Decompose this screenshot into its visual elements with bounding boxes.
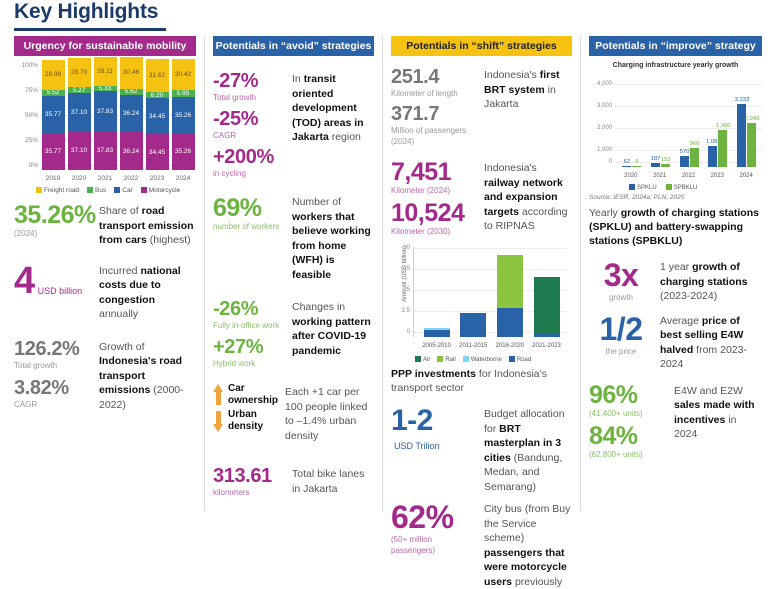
y-tick: 75% <box>14 87 38 94</box>
text-plain: (2023-2024) <box>660 290 717 302</box>
chart-charging-infrastructure: 4,000 3,000 2,000 1,000 0 62918715357096… <box>589 71 765 193</box>
stat-sub: number of workers <box>213 221 285 232</box>
text-bold: workers that believe working from home (… <box>292 211 371 281</box>
stat-description: Incurred national costs due to congestio… <box>92 262 196 322</box>
stat-sub: (2024) <box>14 228 92 239</box>
y-tick: 25% <box>14 137 38 144</box>
chart-plot-area: 35.7735.775.5228.9937.1037.105.2728.7037… <box>40 66 196 170</box>
stat-sub: Kilometer (2024) <box>391 185 477 196</box>
stat-description: City bus (from Buy the Service scheme) p… <box>477 500 572 589</box>
chart-plot-area: 6291871535709661,0811,9003,2332,240 <box>615 83 763 167</box>
stat-description: Each +1 car per 100 people linked to –1.… <box>278 383 374 443</box>
stat-description: 1 year growth of charging stations (2023… <box>653 258 762 304</box>
x-tick-label: 2023 <box>146 175 169 182</box>
stat-sub: growth <box>589 292 653 303</box>
stat-sub: the price <box>589 346 653 357</box>
stat-value-group: 96% (41,400+ units) 84% (62,800+ units) <box>589 382 667 460</box>
bar <box>718 130 727 167</box>
bar-segment: 28.11 <box>94 57 117 86</box>
stat-sub-secondary: Hybrid work <box>213 358 285 369</box>
bar-stack: 35.7735.775.5228.99 <box>42 66 65 170</box>
stat-brt: 251.4 Kilometer of length 371.7 Million … <box>391 66 572 147</box>
stat-value-secondary: 84% <box>589 423 667 449</box>
bar-segment: 34.45 <box>146 98 169 134</box>
arrow-labels-group: Car ownership Urban density <box>213 383 278 435</box>
stat-value-group: 251.4 Kilometer of length 371.7 Million … <box>391 66 477 147</box>
bar-segment: 35.26 <box>172 97 195 134</box>
x-tick-label: 2019 <box>42 175 65 182</box>
text-plain: Budget allocation for <box>484 408 565 435</box>
stat-description: Number of workers that believe working f… <box>285 195 374 282</box>
stat-value-group: 126.2% Total growth 3.82% CAGR <box>14 338 92 410</box>
text-plain: Incurred <box>99 265 140 277</box>
stat-sub: Total growth <box>14 360 92 371</box>
text-plain: Indonesia's <box>484 69 540 81</box>
stat-description: Indonesia's railway network and expansio… <box>477 159 572 234</box>
stat-unit: USD billion <box>35 286 83 300</box>
stat-value-group: 1-2USD Trilion <box>391 405 477 455</box>
y-tick: 10 <box>391 245 410 251</box>
y-tick: 5 <box>391 287 410 293</box>
stat-car-ownership-urban-density: Car ownership Urban density Each +1 car … <box>213 383 374 443</box>
stat-value: -27% <box>213 70 285 92</box>
text-plain: Changes in <box>292 301 345 313</box>
legend-item: Waterborne <box>463 356 502 363</box>
column-header-urgency: Urgency for sustainable mobility <box>14 36 196 56</box>
y-tick: 2.5 <box>391 308 410 314</box>
text-plain: previously <box>512 576 562 588</box>
bar-segment <box>534 277 560 333</box>
stat-value-group: 313.61 kilometers <box>213 465 285 498</box>
bar-segment: 37.83 <box>94 131 117 170</box>
text-plain: Total bike lanes in Jakarta <box>292 468 364 495</box>
stat-sub: Kilometer of length <box>391 88 477 99</box>
text-plain: annually <box>99 308 138 320</box>
bar-segment: 5.95 <box>172 90 195 96</box>
legend-item: Freight road <box>36 187 79 194</box>
chart-caption-ppp: PPP investments for Indonesia's transpor… <box>391 367 572 395</box>
stat-value-secondary: +27% <box>213 336 285 358</box>
y-tick: 0 <box>589 159 612 165</box>
infographic-page: Key Highlights Urgency for sustainable m… <box>0 0 768 511</box>
stat-description: Average price of best selling E4W halved… <box>653 312 762 372</box>
stat-value-secondary: 3.82% <box>14 377 92 399</box>
bar <box>747 123 756 167</box>
bar <box>622 166 631 167</box>
bar <box>690 148 699 167</box>
bar-segment <box>534 333 560 337</box>
x-tick-label: 2021 <box>94 175 117 182</box>
text-plain: Growth of <box>99 341 145 353</box>
x-tick-label: 2021-2023 <box>530 343 564 349</box>
stat-value: -26% <box>213 298 285 320</box>
bar-segment: 30.46 <box>120 57 143 89</box>
stat-value-secondary: 371.7 <box>391 103 477 125</box>
x-tick-label: 2023 <box>703 173 731 179</box>
chart-ppp-investments: Amount (USD billion) 10 7.5 5 2.5 0 AirR… <box>391 245 571 363</box>
bar-value-label: 153 <box>653 157 679 163</box>
stat-sub-secondary: CAGR <box>14 399 92 410</box>
bar-stack <box>460 251 486 337</box>
stat-value-tertiary: +200% <box>213 146 285 168</box>
stat-value-group: -27% Total growth -25% CAGR +200% in cyc… <box>213 70 285 179</box>
bar-value-label: 3,233 <box>729 97 755 103</box>
y-tick: 4,000 <box>589 81 612 87</box>
bar-segment: 6.20 <box>146 92 169 98</box>
stat-charging-growth: 3x growth 1 year growth of charging stat… <box>589 258 762 304</box>
stat-value-group: 35.26% (2024) <box>14 202 92 239</box>
stat-value: 4 <box>14 260 35 302</box>
stat-brt-budget: 1-2USD Trilion Budget allocation for BRT… <box>391 405 572 494</box>
column-urgency: Urgency for sustainable mobility 100% 75… <box>0 36 204 511</box>
y-tick: 0% <box>14 162 38 169</box>
bar-stack <box>424 251 450 337</box>
bar-segment: 34.45 <box>146 134 169 170</box>
x-tick-label: 2005-2010 <box>420 343 454 349</box>
bar-segment <box>497 308 523 337</box>
stat-value: 1-2 <box>391 404 433 437</box>
column-header-shift: Potentials in “shift” strategies <box>391 36 572 56</box>
legend-item: Air <box>415 356 430 363</box>
y-tick: 3,000 <box>589 103 612 109</box>
bar-segment: 28.70 <box>68 58 91 88</box>
stat-sub: (41,400+ units) <box>589 408 667 419</box>
arrow-down-label: Urban density <box>228 409 278 433</box>
text-plain: In <box>292 73 304 85</box>
stat-sub: Fully in-office work <box>213 320 285 331</box>
stat-value-secondary: -25% <box>213 108 285 130</box>
legend-item: Motorcycle <box>141 187 180 194</box>
y-tick: 2,000 <box>589 125 612 131</box>
arrow-up-label: Car ownership <box>228 383 278 407</box>
bar <box>680 156 689 167</box>
stat-working-pattern: -26% Fully in-office work +27% Hybrid wo… <box>213 298 374 369</box>
stat-sub: kilometers <box>213 487 285 498</box>
stat-value-group: 4USD billion <box>14 262 92 300</box>
stat-ev-incentives: 96% (41,400+ units) 84% (62,800+ units) … <box>589 382 762 460</box>
legend-item: Bus <box>87 187 106 194</box>
x-tick-label: 2020 <box>617 173 645 179</box>
x-tick-label: 2022 <box>675 173 703 179</box>
arrow-up-icon <box>213 384 224 406</box>
text-plain: E4W and E2W <box>674 385 743 397</box>
bar-segment: 5.33 <box>94 86 117 92</box>
stat-value: 62% <box>391 500 477 534</box>
bar-segment: 37.10 <box>68 93 91 132</box>
x-tick-label: 2022 <box>120 175 143 182</box>
column-avoid: Potentials in “avoid” strategies -27% To… <box>204 36 382 511</box>
stat-description: Share of road transport emission from ca… <box>92 202 196 248</box>
bar-segment: 36.24 <box>120 95 143 133</box>
stat-value-group: -26% Fully in-office work +27% Hybrid wo… <box>213 298 285 369</box>
bar-segment: 5.62 <box>120 89 143 95</box>
bar-stack: 36.2436.245.6230.46 <box>120 66 143 170</box>
y-tick: 100% <box>14 62 38 69</box>
legend-item: Road <box>509 356 531 363</box>
text-plain: Each +1 car per 100 people linked to –1.… <box>285 386 367 442</box>
legend-item: SPBKLU <box>666 184 698 191</box>
bar-stack: 37.1037.105.2728.70 <box>68 66 91 170</box>
stat-tod: -27% Total growth -25% CAGR +200% in cyc… <box>213 70 374 179</box>
bar <box>708 146 717 167</box>
bar-segment: 31.62 <box>146 59 169 92</box>
stat-value: 1/2 <box>589 312 653 346</box>
column-header-improve: Potentials in “improve” strategy <box>589 36 762 56</box>
bar <box>737 104 746 167</box>
stat-value-group: 1/2 the price <box>589 312 653 357</box>
y-tick: 1,000 <box>589 147 612 153</box>
bar <box>661 164 670 167</box>
column-header-avoid: Potentials in “avoid” strategies <box>213 36 374 56</box>
bar <box>632 166 641 167</box>
bar-stack <box>497 251 523 337</box>
y-tick: 0 <box>391 329 410 335</box>
bar-segment: 37.83 <box>94 91 117 130</box>
text-bold: PPP investments <box>391 368 476 380</box>
chart-caption-charging: Yearly growth of charging stations (SPKL… <box>589 206 762 248</box>
stat-emission-share: 35.26% (2024) Share of road transport em… <box>14 202 196 248</box>
chart-legend: SPKLUSPBKLU <box>629 184 697 191</box>
bar-segment <box>460 313 486 337</box>
stat-sub-secondary: Million of passengers (2024) <box>391 125 477 147</box>
legend-item: Rail <box>437 356 455 363</box>
bar-segment: 5.52 <box>42 90 65 96</box>
arrow-down-icon <box>213 410 224 432</box>
x-tick-label: 2024 <box>732 173 760 179</box>
stat-description: E4W and E2W sales made with incentives i… <box>667 382 762 442</box>
bar-segment: 36.24 <box>120 132 143 170</box>
stat-description: In transit oriented development (TOD) ar… <box>285 70 374 145</box>
text-plain: Yearly <box>589 207 621 219</box>
arrow-row-down: Urban density <box>213 409 278 433</box>
stat-sub: (50+ million passengers) <box>391 534 477 556</box>
stat-bike-lanes: 313.61 kilometers Total bike lanes in Ja… <box>213 465 374 498</box>
chart-legend: AirRailWaterborneRoad <box>415 356 531 363</box>
stat-city-bus: 62% (50+ million passengers) City bus (f… <box>391 500 572 589</box>
text-plain: City bus (from Buy the Service scheme) <box>484 503 570 544</box>
stat-wfh: 69% number of workers Number of workers … <box>213 195 374 282</box>
bar-segment <box>497 255 523 307</box>
stat-value-group: 62% (50+ million passengers) <box>391 500 477 556</box>
bar-stack: 37.8337.835.3328.11 <box>94 66 117 170</box>
stat-value: 3x <box>589 258 653 292</box>
chart-plot-area <box>413 247 567 337</box>
stat-value: 69% <box>213 195 285 221</box>
bar-segment: 28.99 <box>42 60 65 90</box>
legend-item: Car <box>114 187 132 194</box>
stat-unit: USD Trilion <box>391 441 440 455</box>
stat-value: 35.26% <box>14 202 92 228</box>
column-improve: Potentials in “improve” strategy Chargin… <box>580 36 768 511</box>
bar-stack: 35.2635.265.9530.42 <box>172 66 195 170</box>
stat-value: 313.61 <box>213 465 285 487</box>
stat-sub-secondary: CAGR <box>213 130 285 141</box>
bar-segment: 35.26 <box>172 133 195 170</box>
text-plain: 1 year <box>660 261 692 273</box>
chart-title-charging: Charging infrastructure yearly growth <box>589 62 762 69</box>
stat-value-group: 69% number of workers <box>213 195 285 232</box>
stat-congestion-cost: 4USD billion Incurred national costs due… <box>14 262 196 322</box>
stat-description: Changes in working pattern after COVID-1… <box>285 298 374 358</box>
y-tick: 7.5 <box>391 266 410 272</box>
stat-value: 96% <box>589 382 667 408</box>
bar-segment: 35.77 <box>42 96 65 133</box>
bar-segment <box>424 328 450 330</box>
text-bold: sales made with incentives <box>674 399 755 426</box>
title-underline <box>14 28 166 31</box>
text-plain: region <box>329 131 361 143</box>
chart-road-transport-emission-share: 100% 75% 50% 25% 0% 35.7735.775.5228.993… <box>14 62 198 192</box>
bar-value-label: 2,240 <box>739 116 765 122</box>
stat-value: 251.4 <box>391 66 477 88</box>
stat-railway: 7,451 Kilometer (2024) 10,524 Kilometer … <box>391 159 572 237</box>
stat-description: Budget allocation for BRT masterplan in … <box>477 405 572 494</box>
stat-sub-secondary: (62,800+ units) <box>589 449 667 460</box>
stat-value-secondary: 10,524 <box>391 200 477 226</box>
x-tick-label: 2016-2020 <box>493 343 527 349</box>
stat-description: Indonesia's first BRT system in Jakarta <box>477 66 572 112</box>
chart-legend: Freight roadBusCarMotorcycle <box>36 187 180 194</box>
text-bold: working pattern after COVID-19 pandemic <box>292 316 371 357</box>
bar-stack <box>534 251 560 337</box>
stat-sub-secondary: Kilometer (2030) <box>391 226 477 237</box>
text-plain: (highest) <box>147 234 191 246</box>
arrow-row-up: Car ownership <box>213 383 278 407</box>
page-title: Key Highlights <box>14 0 158 24</box>
bar-segment: 37.10 <box>68 131 91 170</box>
stat-sub: Total growth <box>213 92 285 103</box>
bar-segment: 35.77 <box>42 133 65 170</box>
bar-value-label: 1,900 <box>710 123 736 129</box>
stat-value: 7,451 <box>391 159 477 185</box>
column-shift: Potentials in “shift” strategies 251.4 K… <box>382 36 580 511</box>
text-plain: Share of <box>99 205 142 217</box>
bar-segment: 5.27 <box>68 87 91 92</box>
stat-emission-growth: 126.2% Total growth 3.82% CAGR Growth of… <box>14 338 196 413</box>
chart-source: Source: IESR, 2024a; PLN, 2025 <box>589 194 762 201</box>
text-plain: Number of <box>292 196 341 208</box>
stat-value-group: 7,451 Kilometer (2024) 10,524 Kilometer … <box>391 159 477 237</box>
y-tick: 50% <box>14 112 38 119</box>
x-tick-label: 2011-2015 <box>456 343 490 349</box>
x-tick-label: 2020 <box>68 175 91 182</box>
text-plain: Indonesia's <box>484 162 537 174</box>
stat-description: Growth of Indonesia's road transport emi… <box>92 338 196 413</box>
stat-e4w-price: 1/2 the price Average price of best sell… <box>589 312 762 372</box>
bar-segment: 30.42 <box>172 59 195 91</box>
stat-value-group: 3x growth <box>589 258 653 303</box>
stat-sub-tertiary: in cycling <box>213 168 285 179</box>
stat-value: 126.2% <box>14 338 92 360</box>
bar-segment <box>424 330 450 337</box>
legend-item: SPKLU <box>629 184 657 191</box>
bar-stack: 34.4534.456.2031.62 <box>146 66 169 170</box>
bar <box>651 163 660 167</box>
stat-description: Total bike lanes in Jakarta <box>285 465 374 496</box>
x-tick-label: 2021 <box>646 173 674 179</box>
x-tick-label: 2024 <box>172 175 195 182</box>
columns-container: Urgency for sustainable mobility 100% 75… <box>0 36 768 511</box>
text-plain: Average <box>660 315 702 327</box>
